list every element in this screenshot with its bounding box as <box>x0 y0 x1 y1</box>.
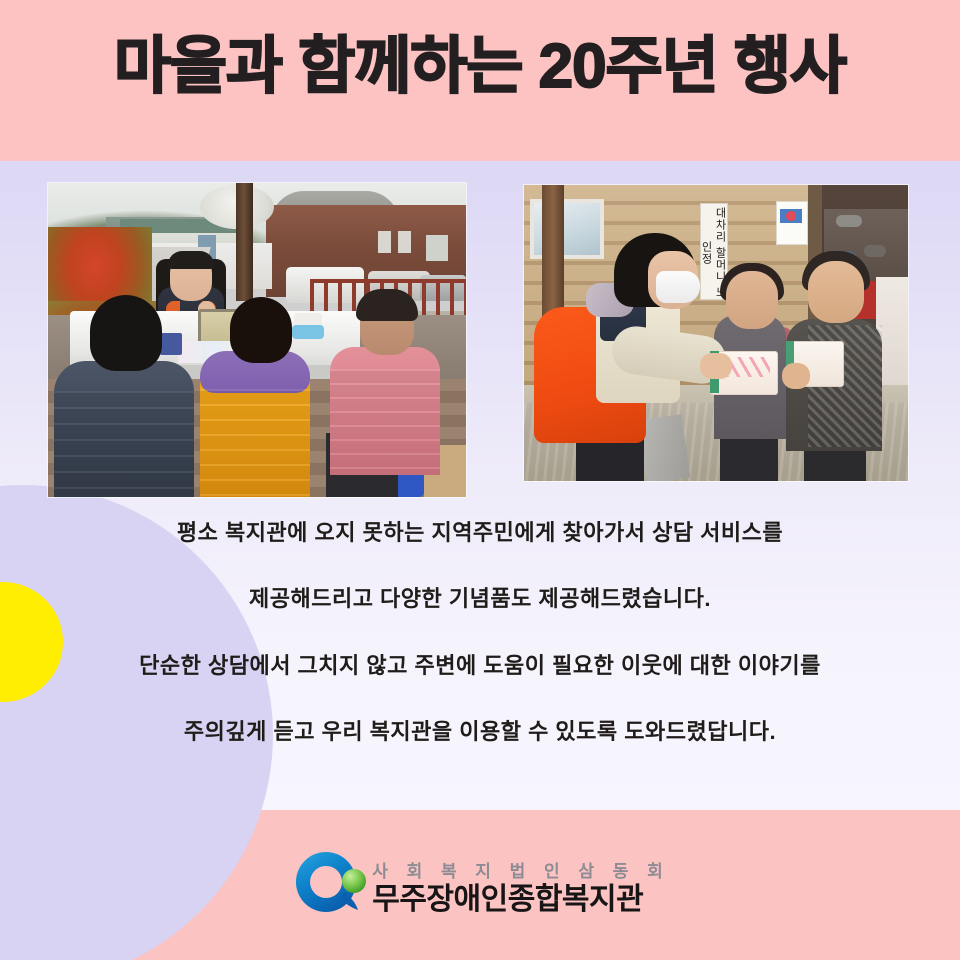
photo-right-staff-face-mask <box>656 271 700 303</box>
photo-left-blue-card <box>160 333 182 355</box>
body-line-1: 평소 복지관에 오지 못하는 지역주민에게 찾아가서 상담 서비스를 <box>0 520 960 546</box>
photo-left-resident3-hair <box>356 289 418 321</box>
samdonghoe-logo-icon <box>290 846 378 928</box>
photo-right-shoe-3 <box>864 245 886 257</box>
photo-right-shoe-1 <box>836 215 862 227</box>
poster-title: 마을과 함께하는 20주년 행사 <box>0 34 960 99</box>
photo-left-resident1-head <box>90 295 162 371</box>
photo-right-villager1-face <box>726 271 778 329</box>
photo-left-resident3-quilting <box>330 369 440 475</box>
photo-left-resident1-quilting <box>54 391 194 497</box>
photo-right-notice-graphic <box>780 209 802 223</box>
photo-left-resident2-head <box>230 297 292 363</box>
photo-left-brick-window-1 <box>378 231 391 253</box>
body-text-block: 평소 복지관에 오지 못하는 지역주민에게 찾아가서 상담 서비스를 제공해드리… <box>0 520 960 746</box>
photo-left-staff-fringe <box>168 251 214 269</box>
body-line-4: 주의깊게 듣고 우리 복지관을 이용할 수 있도록 도와드렸답니다. <box>0 719 960 745</box>
photo-left-blue-container <box>292 325 324 339</box>
photo-left-brick-window-2 <box>398 231 411 253</box>
photo-right-villager2-face <box>808 261 864 323</box>
poster-canvas: 마을과 함께하는 20주년 행사 <box>0 0 960 960</box>
photo-left-brick-window-3 <box>426 235 448 261</box>
body-line-3: 단순한 상담에서 그치지 않고 주변에 도움이 필요한 이웃에 대한 이야기를 <box>0 653 960 679</box>
photo-right-staff-hand <box>700 353 732 379</box>
footer-logo-block: 사 회 복 지 법 인 삼 동 회 무주장애인종합복지관 <box>0 846 960 928</box>
organization-subtitle: 사 회 복 지 법 인 삼 동 회 <box>372 863 670 880</box>
photo-village-consultation <box>48 183 466 497</box>
photo-right-wall-notice <box>776 201 808 245</box>
logo-text-group: 사 회 복 지 법 인 삼 동 회 무주장애인종합복지관 <box>372 859 670 915</box>
body-line-2: 제공해드리고 다양한 기념품도 제공해드렸습니다. <box>0 586 960 612</box>
photo-gift-delivery: 대차리 할머니 노인정 <box>524 185 908 481</box>
photo-left-resident2-quilting <box>200 389 310 497</box>
photo-right-villager2-hand <box>782 363 810 389</box>
organization-name: 무주장애인종합복지관 <box>372 885 670 915</box>
photo-left-wooden-post <box>236 183 253 301</box>
